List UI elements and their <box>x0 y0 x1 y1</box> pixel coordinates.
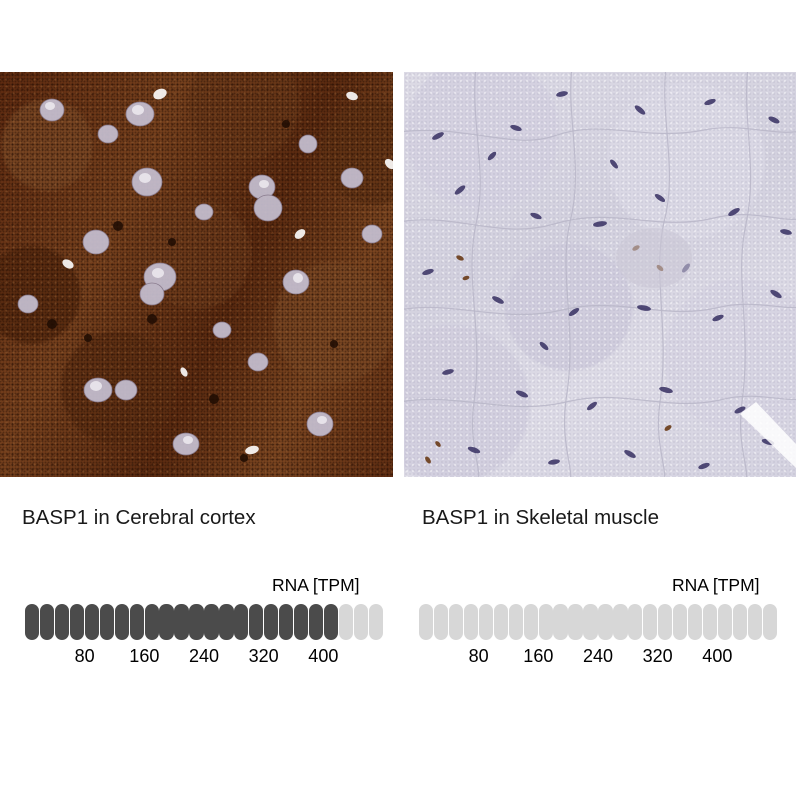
rna-gauge-segment <box>748 604 762 640</box>
rna-gauge-segment <box>130 604 144 640</box>
rna-gauge-segment <box>219 604 233 640</box>
page-root: BASP1 in Cerebral cortex RNA [TPM] 80160… <box>0 0 800 800</box>
rna-gauge-segment <box>354 604 368 640</box>
rna-gauge-cerebral-cortex[interactable] <box>25 604 383 640</box>
rna-tick-label: 80 <box>469 645 489 667</box>
rna-tick-label: 160 <box>523 645 553 667</box>
rna-gauge-segment <box>763 604 777 640</box>
rna-gauge-segment <box>189 604 203 640</box>
rna-tick-labels-skeletal-muscle: 80160240320400 <box>419 645 777 669</box>
rna-tick-label: 160 <box>129 645 159 667</box>
neuron-cell-bodies-overlay <box>0 72 393 477</box>
rna-gauge-segment <box>733 604 747 640</box>
panel-caption-skeletal-muscle: BASP1 in Skeletal muscle <box>422 505 659 531</box>
rna-gauge-skeletal-muscle[interactable] <box>419 604 777 640</box>
rna-gauge-segment <box>324 604 338 640</box>
rna-gauge-segment <box>509 604 523 640</box>
rna-gauge-segment <box>40 604 54 640</box>
rna-gauge-segment <box>658 604 672 640</box>
hematoxylin-nuclei-overlay <box>404 72 796 477</box>
rna-tick-label: 240 <box>189 645 219 667</box>
rna-gauge-segment <box>583 604 597 640</box>
rna-gauge-segment <box>294 604 308 640</box>
rna-gauge-segment <box>264 604 278 640</box>
rna-axis-label-cerebral-cortex: RNA [TPM] <box>272 575 360 595</box>
rna-gauge-segment <box>100 604 114 640</box>
micrograph-skeletal-muscle[interactable] <box>404 72 796 477</box>
rna-gauge-segment <box>309 604 323 640</box>
rna-axis-label-skeletal-muscle: RNA [TPM] <box>672 575 760 595</box>
rna-gauge-segment <box>673 604 687 640</box>
rna-tick-labels-cerebral-cortex: 80160240320400 <box>25 645 383 669</box>
rna-tick-label: 400 <box>308 645 338 667</box>
rna-tick-label: 320 <box>643 645 673 667</box>
rna-gauge-segment <box>643 604 657 640</box>
rna-gauge-segment <box>279 604 293 640</box>
rna-gauge-segment <box>568 604 582 640</box>
rna-gauge-segment <box>369 604 383 640</box>
panel-caption-cerebral-cortex: BASP1 in Cerebral cortex <box>22 505 256 531</box>
rna-gauge-segment <box>434 604 448 640</box>
micrograph-cerebral-cortex[interactable] <box>0 72 393 477</box>
rna-gauge-segment <box>553 604 567 640</box>
rna-gauge-segment <box>688 604 702 640</box>
rna-gauge-segment <box>70 604 84 640</box>
rna-gauge-segment <box>85 604 99 640</box>
rna-gauge-segment <box>479 604 493 640</box>
rna-gauge-segment <box>539 604 553 640</box>
rna-gauge-segment <box>613 604 627 640</box>
rna-gauge-segment <box>703 604 717 640</box>
rna-gauge-segment <box>204 604 218 640</box>
rna-gauge-segment <box>115 604 129 640</box>
rna-tick-label: 80 <box>75 645 95 667</box>
panel-cerebral-cortex: BASP1 in Cerebral cortex RNA [TPM] 80160… <box>0 0 400 800</box>
panel-skeletal-muscle: BASP1 in Skeletal muscle RNA [TPM] 80160… <box>400 0 800 800</box>
rna-gauge-segment <box>718 604 732 640</box>
rna-gauge-segment <box>598 604 612 640</box>
rna-tick-label: 320 <box>249 645 279 667</box>
rna-gauge-segment <box>159 604 173 640</box>
rna-gauge-segment <box>145 604 159 640</box>
rna-gauge-segment <box>25 604 39 640</box>
rna-gauge-segment <box>339 604 353 640</box>
rna-gauge-segment <box>174 604 188 640</box>
rna-gauge-segment <box>55 604 69 640</box>
rna-gauge-segment <box>628 604 642 640</box>
rna-tick-label: 240 <box>583 645 613 667</box>
rna-gauge-segment <box>419 604 433 640</box>
rna-tick-label: 400 <box>702 645 732 667</box>
rna-gauge-segment <box>494 604 508 640</box>
rna-gauge-segment <box>524 604 538 640</box>
rna-gauge-segment <box>249 604 263 640</box>
rna-gauge-segment <box>234 604 248 640</box>
rna-gauge-segment <box>464 604 478 640</box>
rna-gauge-segment <box>449 604 463 640</box>
